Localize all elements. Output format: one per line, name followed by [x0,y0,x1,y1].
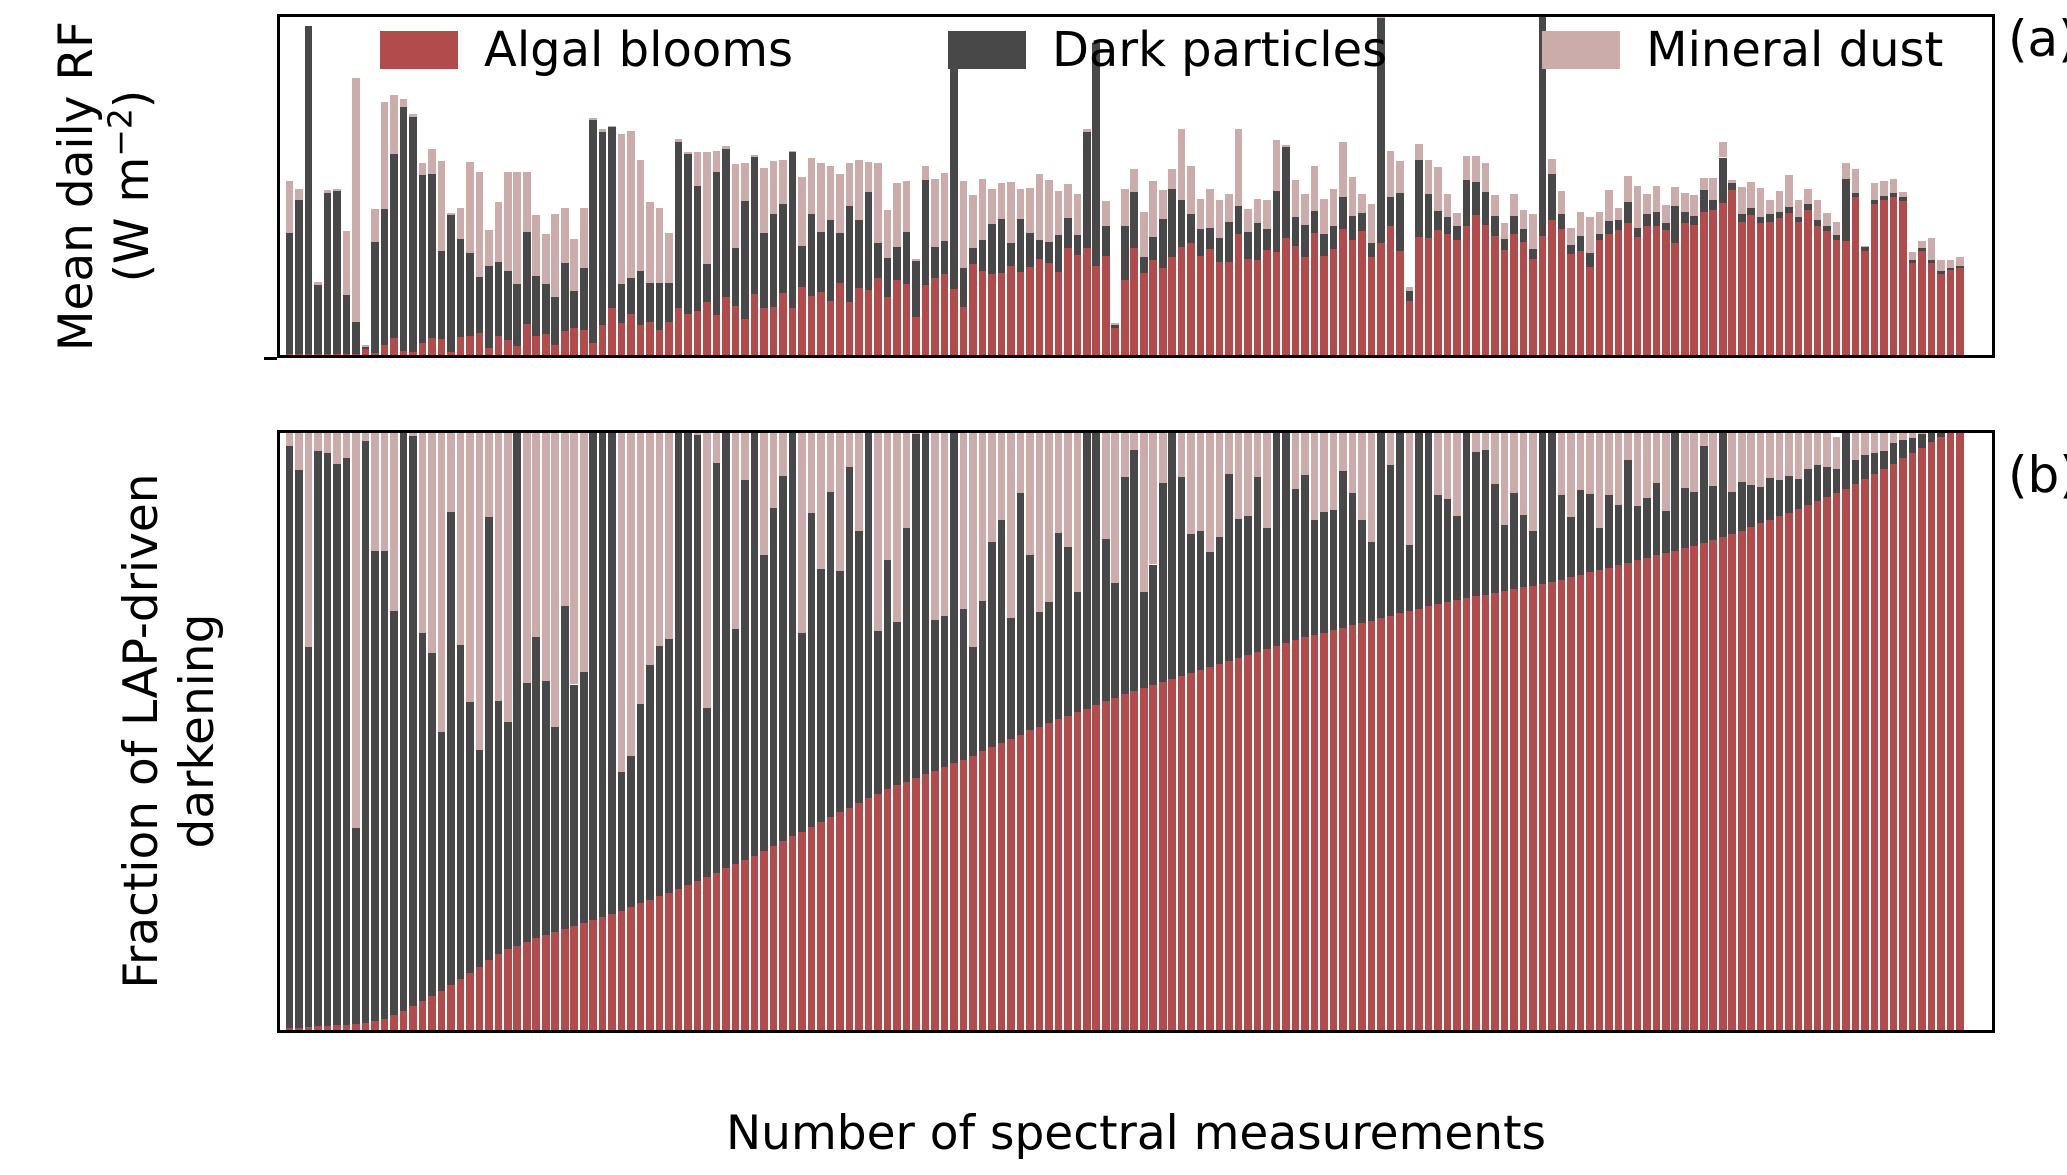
bar-segment-algal-blooms [428,338,436,355]
stacked-bar [295,430,303,1030]
bar-segment-algal-blooms [1045,263,1053,355]
bar-segment-algal-blooms [551,932,559,1030]
bar-segment-mineral-dust [1415,144,1423,160]
bar-segment-algal-blooms [466,973,474,1030]
bar-segment-algal-blooms [1301,637,1309,1030]
stacked-bar [1216,430,1224,1030]
bar-segment-algal-blooms [1690,546,1698,1030]
legend-item-dark-particles[interactable]: Dark particles [948,26,1387,74]
bar-segment-algal-blooms [1501,591,1509,1030]
bar-segment-dark-particles [1890,443,1898,464]
bar-segment-algal-blooms [1396,251,1404,355]
bar-segment-algal-blooms [1083,709,1091,1030]
stacked-bar [1273,430,1281,1030]
bar-segment-algal-blooms [580,923,588,1030]
bar-segment-dark-particles [1074,235,1082,255]
stacked-bar [1453,430,1461,1030]
bar-segment-mineral-dust [1045,180,1053,242]
bar-segment-mineral-dust [1168,169,1176,190]
bar-segment-dark-particles [950,64,958,289]
bar-segment-dark-particles [703,264,711,302]
bar-segment-algal-blooms [1890,464,1898,1030]
bar-segment-mineral-dust [1083,129,1091,133]
bar-segment-mineral-dust [836,174,844,233]
bar-segment-mineral-dust [1823,213,1831,226]
bar-segment-algal-blooms [1956,430,1964,1030]
bar-segment-algal-blooms [808,296,816,355]
bar-segment-dark-particles [741,480,749,860]
bar-segment-mineral-dust [789,151,797,152]
bar-segment-algal-blooms [1007,266,1015,355]
bar-segment-dark-particles [324,453,332,1026]
stacked-bar [1852,430,1860,1030]
bar-segment-mineral-dust [551,430,559,727]
bar-segment-algal-blooms [760,308,768,355]
bar-segment-algal-blooms [1045,723,1053,1030]
stacked-bar [419,430,427,1030]
bar-segment-mineral-dust [1064,430,1072,547]
bar-segment-mineral-dust [1671,187,1679,205]
bar-segment-mineral-dust [1444,430,1452,499]
bar-segment-dark-particles [1396,430,1404,613]
bar-segment-algal-blooms [1292,640,1300,1030]
bar-segment-dark-particles [998,219,1006,273]
bar-segment-algal-blooms [789,308,797,355]
bar-segment-mineral-dust [1833,437,1841,468]
bar-segment-algal-blooms [1671,243,1679,355]
bar-segment-mineral-dust [1605,190,1613,221]
bar-segment-mineral-dust [381,102,389,209]
bar-segment-algal-blooms [570,926,578,1030]
stacked-bar [1121,430,1129,1030]
bar-segment-algal-blooms [722,297,730,355]
bar-segment-mineral-dust [703,430,711,708]
bar-segment-dark-particles [1055,533,1063,720]
stacked-bar [732,430,740,1030]
bar-segment-mineral-dust [1861,430,1869,455]
bar-segment-mineral-dust [1577,430,1585,490]
bar-segment-algal-blooms [627,314,635,355]
bar-segment-mineral-dust [1956,257,1964,266]
bar-segment-dark-particles [352,828,360,1024]
bar-segment-mineral-dust [694,152,702,186]
bar-segment-mineral-dust [817,163,825,232]
bar-segment-dark-particles [532,276,540,336]
bar-segment-algal-blooms [627,907,635,1030]
bar-segment-dark-particles [457,645,465,980]
bar-segment-algal-blooms [1671,551,1679,1030]
bar-segment-mineral-dust [1482,163,1490,191]
bar-segment-mineral-dust [1861,246,1869,247]
bar-segment-mineral-dust [428,149,436,173]
bar-segment-mineral-dust [1292,430,1300,489]
bar-segment-algal-blooms [561,929,569,1030]
stacked-bar [789,430,797,1030]
bar-segment-dark-particles [1947,268,1955,270]
bar-segment-algal-blooms [1358,623,1366,1030]
bar-segment-algal-blooms [1491,593,1499,1030]
bar-segment-dark-particles [1785,207,1793,213]
bar-segment-dark-particles [779,476,787,841]
bar-segment-algal-blooms [874,794,882,1030]
bar-segment-dark-particles [570,291,578,328]
bar-segment-algal-blooms [1235,234,1243,355]
stacked-bar [1747,430,1755,1030]
bar-segment-dark-particles [903,232,911,284]
bar-segment-dark-particles [1472,452,1480,597]
bar-segment-dark-particles [1681,212,1689,222]
bar-segment-mineral-dust [1871,430,1879,453]
stacked-bar [1007,430,1015,1030]
stacked-bar [1330,430,1338,1030]
stacked-bar [1472,430,1480,1030]
bar-segment-mineral-dust [400,99,408,107]
bar-segment-algal-blooms [1282,643,1290,1030]
bar-segment-mineral-dust [1804,189,1812,205]
bar-segment-dark-particles [675,142,683,308]
bar-segment-mineral-dust [998,430,1006,520]
bar-segment-mineral-dust [979,430,987,601]
stacked-bar [846,430,854,1030]
bar-segment-dark-particles [1567,245,1575,255]
bar-segment-mineral-dust [561,208,569,263]
bar-segment-dark-particles [1225,222,1233,262]
stacked-bar [694,430,702,1030]
bar-segment-dark-particles [988,224,996,274]
stacked-bar [409,430,417,1030]
bar-segment-mineral-dust [1472,156,1480,182]
legend-item-algal-blooms[interactable]: Algal blooms [380,26,793,74]
bar-segment-algal-blooms [476,967,484,1030]
bar-segment-mineral-dust [960,430,968,609]
bar-segment-algal-blooms [798,832,806,1030]
bar-segment-mineral-dust [1349,177,1357,215]
bar-segment-mineral-dust [1178,430,1186,477]
bar-segment-algal-blooms [1235,658,1243,1030]
stacked-bar [1102,430,1110,1030]
bar-segment-mineral-dust [419,430,427,633]
bar-segment-algal-blooms [324,354,332,355]
bar-segment-dark-particles [1159,219,1167,268]
bar-segment-dark-particles [1026,555,1034,730]
bar-segment-dark-particles [1880,196,1888,200]
bar-segment-algal-blooms [1159,268,1167,355]
bar-segment-dark-particles [1615,505,1623,565]
bar-segment-dark-particles [846,206,854,302]
bar-segment-mineral-dust [760,430,768,555]
bar-segment-mineral-dust [808,430,816,513]
stacked-bar [1036,430,1044,1030]
bar-segment-algal-blooms [1728,534,1736,1030]
bar-segment-mineral-dust [1747,430,1755,485]
bar-segment-dark-particles [1671,206,1679,243]
bar-segment-mineral-dust [1823,432,1831,466]
bar-segment-dark-particles [1747,208,1755,215]
bar-segment-dark-particles [1776,212,1784,218]
bar-segment-mineral-dust [495,430,503,701]
bar-segment-mineral-dust [1225,194,1233,221]
bar-segment-dark-particles [656,283,664,330]
bar-segment-dark-particles [1681,488,1689,548]
bar-segment-dark-particles [1510,216,1518,234]
bar-segment-algal-blooms [324,1026,332,1030]
bar-segment-mineral-dust [1776,430,1784,480]
bar-segment-dark-particles [476,750,484,967]
bar-segment-mineral-dust [1055,191,1063,235]
stacked-bar [447,430,455,1030]
bar-segment-algal-blooms [884,789,892,1030]
bar-segment-mineral-dust [1795,430,1803,479]
bar-segment-mineral-dust [532,430,540,637]
bar-segment-mineral-dust [1036,430,1044,612]
bar-segment-mineral-dust [618,430,626,772]
bar-segment-mineral-dust [1852,430,1860,460]
bar-segment-mineral-dust [286,181,294,233]
bar-segment-dark-particles [400,432,408,1011]
stacked-bar [428,430,436,1030]
stacked-bar [1434,430,1442,1030]
stacked-bar [741,430,749,1030]
bar-segment-dark-particles [532,637,540,939]
bar-segment-mineral-dust [1577,212,1585,236]
bar-segment-mineral-dust [1197,199,1205,229]
stacked-bar [1187,430,1195,1030]
bar-segment-mineral-dust [1662,430,1670,511]
bar-segment-dark-particles [1596,528,1604,570]
legend-item-mineral-dust[interactable]: Mineral dust [1542,26,1943,74]
bar-segment-mineral-dust [1719,142,1727,158]
stacked-bar [1074,430,1082,1030]
bar-segment-dark-particles [732,248,740,306]
bar-segment-algal-blooms [1197,670,1205,1030]
stacked-bar [381,430,389,1030]
bar-segment-dark-particles [1690,216,1698,225]
stacked-bar [352,430,360,1030]
bar-segment-algal-blooms [1444,234,1452,355]
bar-segment-algal-blooms [419,343,427,355]
bar-segment-dark-particles [1235,206,1243,235]
stacked-bar [865,430,873,1030]
bar-segment-algal-blooms [1871,204,1879,355]
bar-segment-algal-blooms [903,284,911,355]
bar-segment-dark-particles [551,727,559,932]
bar-segment-dark-particles [1586,494,1594,572]
stacked-bar [599,430,607,1030]
stacked-bar [476,430,484,1030]
bar-segment-algal-blooms [1472,596,1480,1030]
bar-segment-algal-blooms [1092,266,1100,355]
stacked-bar [1795,430,1803,1030]
bar-segment-algal-blooms [513,346,521,355]
bar-segment-dark-particles [1776,480,1784,516]
bar-segment-mineral-dust [457,430,465,645]
bar-segment-algal-blooms [542,935,550,1030]
bar-segment-algal-blooms [1728,190,1736,355]
bar-segment-dark-particles [760,233,768,308]
bar-segment-dark-particles [1842,430,1850,489]
bar-segment-mineral-dust [1178,129,1186,200]
bar-segment-dark-particles [551,297,559,344]
bar-segment-mineral-dust [305,430,313,647]
bar-segment-dark-particles [1311,211,1319,232]
bar-segment-algal-blooms [817,822,825,1030]
bar-segment-algal-blooms [371,1021,379,1030]
bar-segment-algal-blooms [1738,531,1746,1030]
stacked-bar [1719,430,1727,1030]
stacked-bar [912,430,920,1030]
stacked-bar [561,430,569,1030]
bar-segment-dark-particles [352,322,360,355]
bar-segment-dark-particles [665,639,673,892]
bar-segment-mineral-dust [1216,200,1224,238]
stacked-bar [931,430,939,1030]
bar-segment-algal-blooms [950,763,958,1030]
bar-segment-dark-particles [1121,226,1129,280]
bar-segment-algal-blooms [637,903,645,1030]
bar-segment-dark-particles [1842,179,1850,241]
stacked-bar [1624,430,1632,1030]
bar-segment-mineral-dust [1007,182,1015,243]
bar-segment-algal-blooms [912,778,920,1030]
bar-segment-mineral-dust [969,430,977,647]
bar-segment-dark-particles [1558,495,1566,579]
bar-segment-dark-particles [1102,226,1110,256]
bar-segment-algal-blooms [1577,575,1585,1030]
bar-segment-mineral-dust [884,210,892,258]
bar-segment-mineral-dust [1102,430,1110,539]
bar-segment-dark-particles [1396,193,1404,251]
bar-segment-algal-blooms [551,345,559,355]
bar-segment-dark-particles [1453,516,1461,600]
stacked-bar [1577,430,1585,1030]
stacked-bar [1947,14,1955,355]
bar-segment-algal-blooms [1510,234,1518,355]
bar-segment-algal-blooms [665,893,673,1030]
bar-segment-dark-particles [1301,225,1309,258]
bar-segment-mineral-dust [1757,430,1765,487]
bar-segment-algal-blooms [1244,259,1252,355]
bar-segment-algal-blooms [1206,249,1214,355]
bar-segment-dark-particles [419,633,427,1001]
bar-segment-mineral-dust [1852,169,1860,193]
bar-segment-dark-particles [979,240,987,271]
bar-segment-mineral-dust [1216,430,1224,537]
bar-segment-algal-blooms [1814,226,1822,355]
bar-segment-dark-particles [722,149,730,297]
bar-segment-mineral-dust [1643,194,1651,214]
bar-segment-mineral-dust [1690,195,1698,216]
bar-segment-mineral-dust [1918,241,1926,248]
bar-segment-algal-blooms [1092,705,1100,1030]
bar-segment-algal-blooms [760,851,768,1030]
bar-segment-mineral-dust [618,134,626,284]
bar-segment-dark-particles [703,708,711,877]
bar-segment-algal-blooms [1548,582,1556,1030]
bar-segment-dark-particles [1368,542,1376,620]
bar-segment-dark-particles [1301,475,1309,638]
bar-segment-algal-blooms [1890,197,1898,355]
bar-segment-algal-blooms [438,991,446,1030]
stacked-bar [1634,430,1642,1030]
bar-segment-algal-blooms [352,1024,360,1030]
bar-segment-dark-particles [1254,223,1262,259]
bar-segment-dark-particles [1415,160,1423,237]
bar-segment-dark-particles [1814,465,1822,501]
bar-segment-dark-particles [1643,214,1651,225]
bar-segment-mineral-dust [1301,194,1309,225]
stacked-bar [1491,430,1499,1030]
bar-segment-dark-particles [1149,237,1157,259]
bar-segment-dark-particles [1036,240,1044,259]
stacked-bar [570,430,578,1030]
bar-segment-algal-blooms [1738,222,1746,355]
bar-segment-mineral-dust [960,181,968,268]
bar-segment-mineral-dust [941,173,949,241]
bar-segment-algal-blooms [523,942,531,1030]
bar-segment-mineral-dust [1368,430,1376,542]
bar-segment-dark-particles [1709,486,1717,540]
bar-segment-mineral-dust [675,139,683,142]
bar-segment-dark-particles [1577,490,1585,574]
bar-segment-dark-particles [1358,520,1366,623]
bar-segment-algal-blooms [1225,661,1233,1030]
bar-segment-algal-blooms [1747,215,1755,355]
bar-segment-dark-particles [1567,517,1575,577]
bar-segment-dark-particles [665,283,673,321]
bar-segment-algal-blooms [1842,241,1850,355]
bar-segment-algal-blooms [912,317,920,355]
bar-segment-dark-particles [865,192,873,290]
bar-segment-algal-blooms [618,323,626,355]
stacked-bar [1785,430,1793,1030]
bar-segment-algal-blooms [1899,201,1907,355]
stacked-bar [608,430,616,1030]
bar-segment-algal-blooms [1434,230,1442,355]
bar-segment-algal-blooms [1017,735,1025,1030]
bar-segment-mineral-dust [656,208,664,283]
bar-segment-algal-blooms [1757,523,1765,1030]
bar-segment-mineral-dust [1510,430,1518,493]
bar-segment-algal-blooms [1852,484,1860,1030]
bar-segment-dark-particles [1501,525,1509,591]
bar-segment-algal-blooms [1178,247,1186,355]
stacked-bar [1235,430,1243,1030]
bar-segment-dark-particles [1339,197,1347,230]
bar-segment-algal-blooms [1852,197,1860,355]
bar-segment-algal-blooms [1899,458,1907,1030]
bar-segment-dark-particles [1168,430,1176,679]
bar-segment-dark-particles [1947,430,1955,432]
bar-segment-algal-blooms [637,325,645,355]
bar-segment-dark-particles [1387,465,1395,616]
bar-segment-dark-particles [1349,216,1357,240]
panel-b-label: (b) [2008,450,2067,500]
bar-segment-mineral-dust [599,129,607,133]
stacked-bar [1918,430,1926,1030]
bar-segment-mineral-dust [1206,189,1214,228]
bar-segment-mineral-dust [1425,160,1433,194]
bar-segment-mineral-dust [931,430,939,620]
stacked-bar [1700,430,1708,1030]
bar-segment-algal-blooms [1074,712,1082,1030]
stacked-bar [1026,430,1034,1030]
bar-segment-dark-particles [1653,483,1661,555]
bar-segment-mineral-dust [1140,430,1148,592]
bar-segment-algal-blooms [1653,226,1661,355]
bar-segment-algal-blooms [343,1025,351,1030]
bar-segment-algal-blooms [286,354,294,355]
y-tick-mark [264,357,277,360]
